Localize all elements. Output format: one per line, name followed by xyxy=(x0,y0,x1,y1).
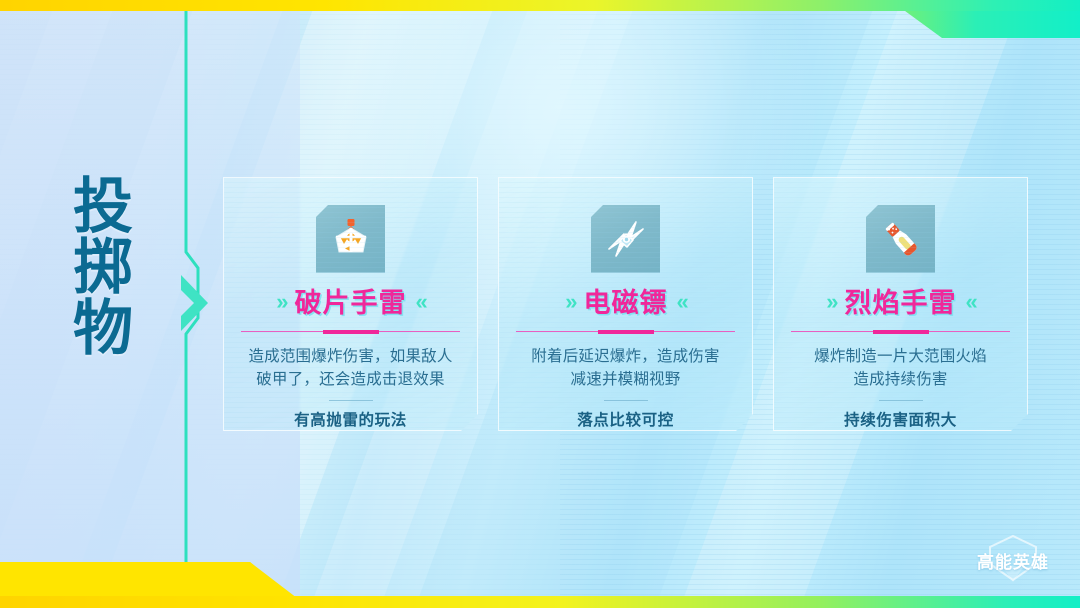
item-icon-container xyxy=(866,205,935,273)
fragmentation-grenade-icon xyxy=(327,215,375,263)
flame-molotov-icon xyxy=(877,215,925,263)
item-icon-container xyxy=(591,205,660,273)
item-description-line-2: 减速并模糊视野 xyxy=(520,369,732,392)
item-title-underline xyxy=(791,329,1010,335)
chevron-right-icon: « xyxy=(677,291,686,316)
brand-logo: 高能英雄 xyxy=(964,534,1062,586)
item-tagline-separator xyxy=(604,400,648,401)
item-tagline: 有高抛雷的玩法 xyxy=(294,408,407,430)
item-description-line-1: 造成范围爆炸伤害，如果敌人 xyxy=(245,346,457,369)
item-tagline: 持续伤害面积大 xyxy=(844,408,957,430)
item-title: 破片手雷 xyxy=(295,290,407,317)
chevron-left-icon: » xyxy=(565,291,574,316)
item-title-underline xyxy=(241,329,460,335)
item-title: 电磁镖 xyxy=(584,290,668,317)
item-card-list: » 破片手雷 « 造成范围爆炸伤害，如果敌人 破甲了，还会造成击退效果 有高抛雷… xyxy=(0,0,1080,608)
chevron-right-icon: « xyxy=(416,291,425,316)
item-card[interactable]: » 破片手雷 « 造成范围爆炸伤害，如果敌人 破甲了，还会造成击退效果 有高抛雷… xyxy=(223,177,478,431)
chevron-left-icon: » xyxy=(826,291,835,316)
chevron-left-icon: » xyxy=(276,291,285,316)
item-title: 烈焰手雷 xyxy=(845,290,957,317)
item-card[interactable]: » 电磁镖 « 附着后延迟爆炸，造成伤害 减速并模糊视野 落点比较可控 xyxy=(498,177,753,431)
item-tagline-separator xyxy=(329,400,373,401)
item-title-row: » 烈焰手雷 « xyxy=(826,288,975,321)
item-description-line-1: 爆炸制造一片大范围火焰 xyxy=(795,346,1007,369)
item-description: 造成范围爆炸伤害，如果敌人 破甲了，还会造成击退效果 xyxy=(245,346,457,392)
slide-stage: 投 掷 物 xyxy=(0,0,1080,608)
item-description: 附着后延迟爆炸，造成伤害 减速并模糊视野 xyxy=(520,346,732,392)
electromagnetic-shuriken-icon xyxy=(602,215,650,263)
item-card[interactable]: » 烈焰手雷 « 爆炸制造一片大范围火焰 造成持续伤害 持续伤害面积大 xyxy=(773,177,1028,431)
item-title-row: » 破片手雷 « xyxy=(276,288,425,321)
item-title-row: » 电磁镖 « xyxy=(565,288,686,321)
item-description-line-2: 破甲了，还会造成击退效果 xyxy=(245,369,457,392)
item-description-line-1: 附着后延迟爆炸，造成伤害 xyxy=(520,346,732,369)
item-icon-container xyxy=(316,205,385,273)
item-tagline: 落点比较可控 xyxy=(577,408,674,430)
chevron-right-icon: « xyxy=(966,291,975,316)
brand-logo-text: 高能英雄 xyxy=(977,548,1049,573)
item-title-underline xyxy=(516,329,735,335)
item-tagline-separator xyxy=(879,400,923,401)
item-description-line-2: 造成持续伤害 xyxy=(795,369,1007,392)
item-description: 爆炸制造一片大范围火焰 造成持续伤害 xyxy=(795,346,1007,392)
